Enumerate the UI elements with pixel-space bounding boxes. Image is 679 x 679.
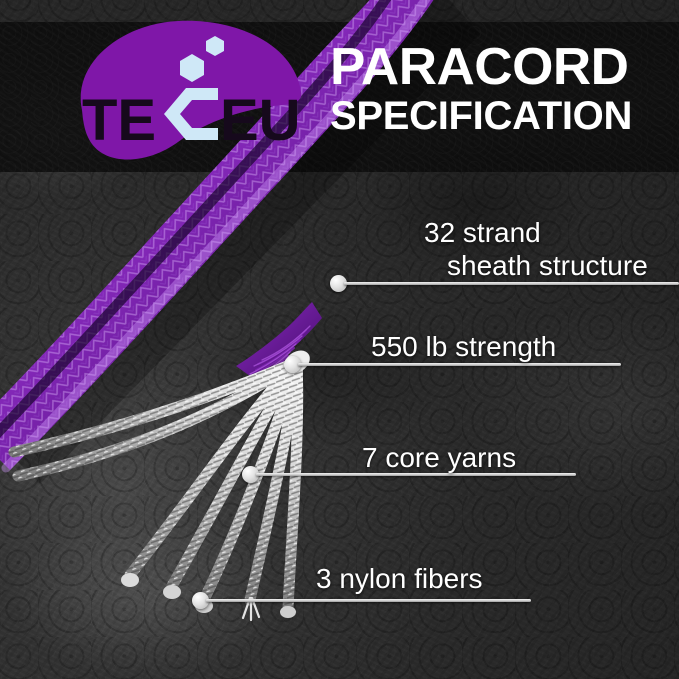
leader-line-sheath [344, 282, 679, 285]
logo-word-prefix: TE [82, 88, 156, 153]
callout-core-yarns-line1: 7 core yarns [362, 441, 516, 474]
leader-line-nylon-fibers [206, 599, 531, 602]
leader-line-strength [298, 363, 621, 366]
title-line-specification: SPECIFICATION [330, 94, 670, 138]
logo-word-suffix: EUM [220, 88, 303, 153]
callout-sheath-line2: sheath structure [447, 249, 648, 282]
callout-strength-line1: 550 lb strength [371, 330, 556, 363]
callout-sheath-line1: 32 strand [424, 216, 541, 249]
title-line-paracord: PARACORD [330, 42, 677, 92]
page-title: PARACORD SPECIFICATION [330, 42, 670, 138]
brand-logo: TE EUM [68, 18, 303, 170]
hex-c-icon [164, 88, 218, 140]
hex-cluster-icon [180, 36, 224, 82]
logo-wordmark: TE EUM [68, 18, 303, 170]
infographic-canvas: TE EUM PARACORD SPECIFICATION 32 strand … [0, 0, 679, 679]
callout-nylon-fibers-line1: 3 nylon fibers [316, 562, 483, 595]
